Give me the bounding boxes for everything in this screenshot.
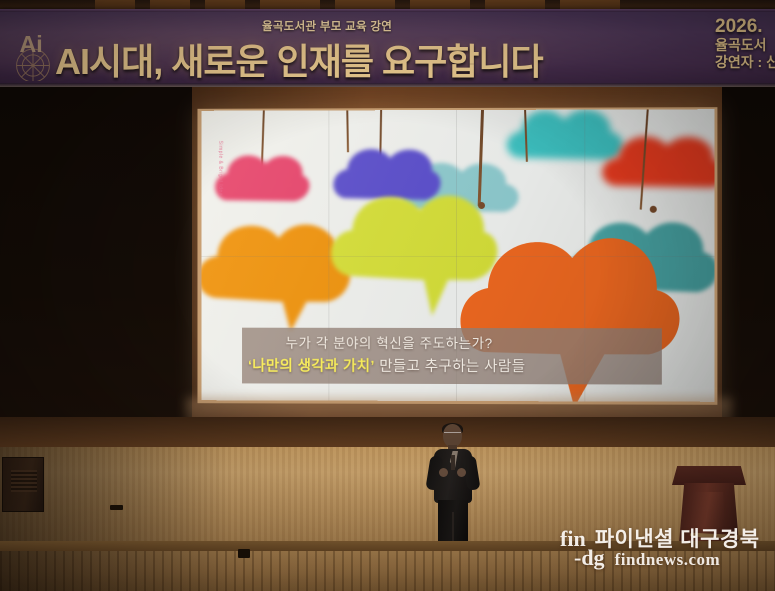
event-banner: Ai 율곡도서관 부모 교육 강연 AI시대, 새로운 인재를 요구합니다 20… [0, 9, 775, 87]
podium-top-surface [672, 466, 746, 485]
lecture-hall-photo: Ai 율곡도서관 부모 교육 강연 AI시대, 새로운 인재를 요구합니다 20… [0, 0, 775, 591]
slide-vertical-note: Simple & Bright Idea [217, 141, 223, 196]
presenter-speaker [424, 424, 482, 548]
presenter-tie [451, 455, 455, 470]
svg-text:Ai: Ai [19, 31, 42, 57]
slide-caption-rest: 만들고 추구하는 사람들 [375, 359, 526, 375]
slide-caption-highlight: ‘나만의 생각과 가치’ [248, 359, 375, 375]
floor-socket [110, 505, 123, 510]
glasses-icon [444, 432, 461, 436]
presenter-left-hand [439, 468, 448, 477]
banner-top-edge [0, 9, 775, 12]
podium-front-panel [690, 492, 726, 548]
cloud-red [596, 127, 714, 208]
banner-speaker-line: 강연자 : 신 [715, 54, 775, 71]
floor-speaker-box [2, 457, 44, 512]
stage-front-shadow [0, 551, 240, 591]
ai-banner-logo: Ai [4, 23, 62, 81]
speaker-grill [11, 470, 37, 492]
slide-caption-line-2: ‘나만의 생각과 가치’ 만들고 추구하는 사람들 [248, 355, 525, 377]
banner-organizer: 율곡도서 [715, 37, 775, 54]
slide-caption-line-1: 누가 각 분야의 혁신을 주도하는가? [286, 332, 493, 352]
stage-front-socket [238, 549, 250, 558]
screen-seam [201, 256, 714, 257]
presenter-right-hand [457, 468, 466, 477]
projection-screen: Simple & Bright Idea 누가 각 분야의 혁신을 주도하는가?… [201, 109, 714, 402]
banner-subtitle: 율곡도서관 부모 교육 강연 [262, 18, 392, 34]
banner-date: 2026. [715, 17, 775, 37]
banner-title: AI시대, 새로운 인재를 요구합니다 [55, 33, 543, 85]
banner-info-block: 2026. 율곡도서 강연자 : 신 [715, 17, 775, 71]
